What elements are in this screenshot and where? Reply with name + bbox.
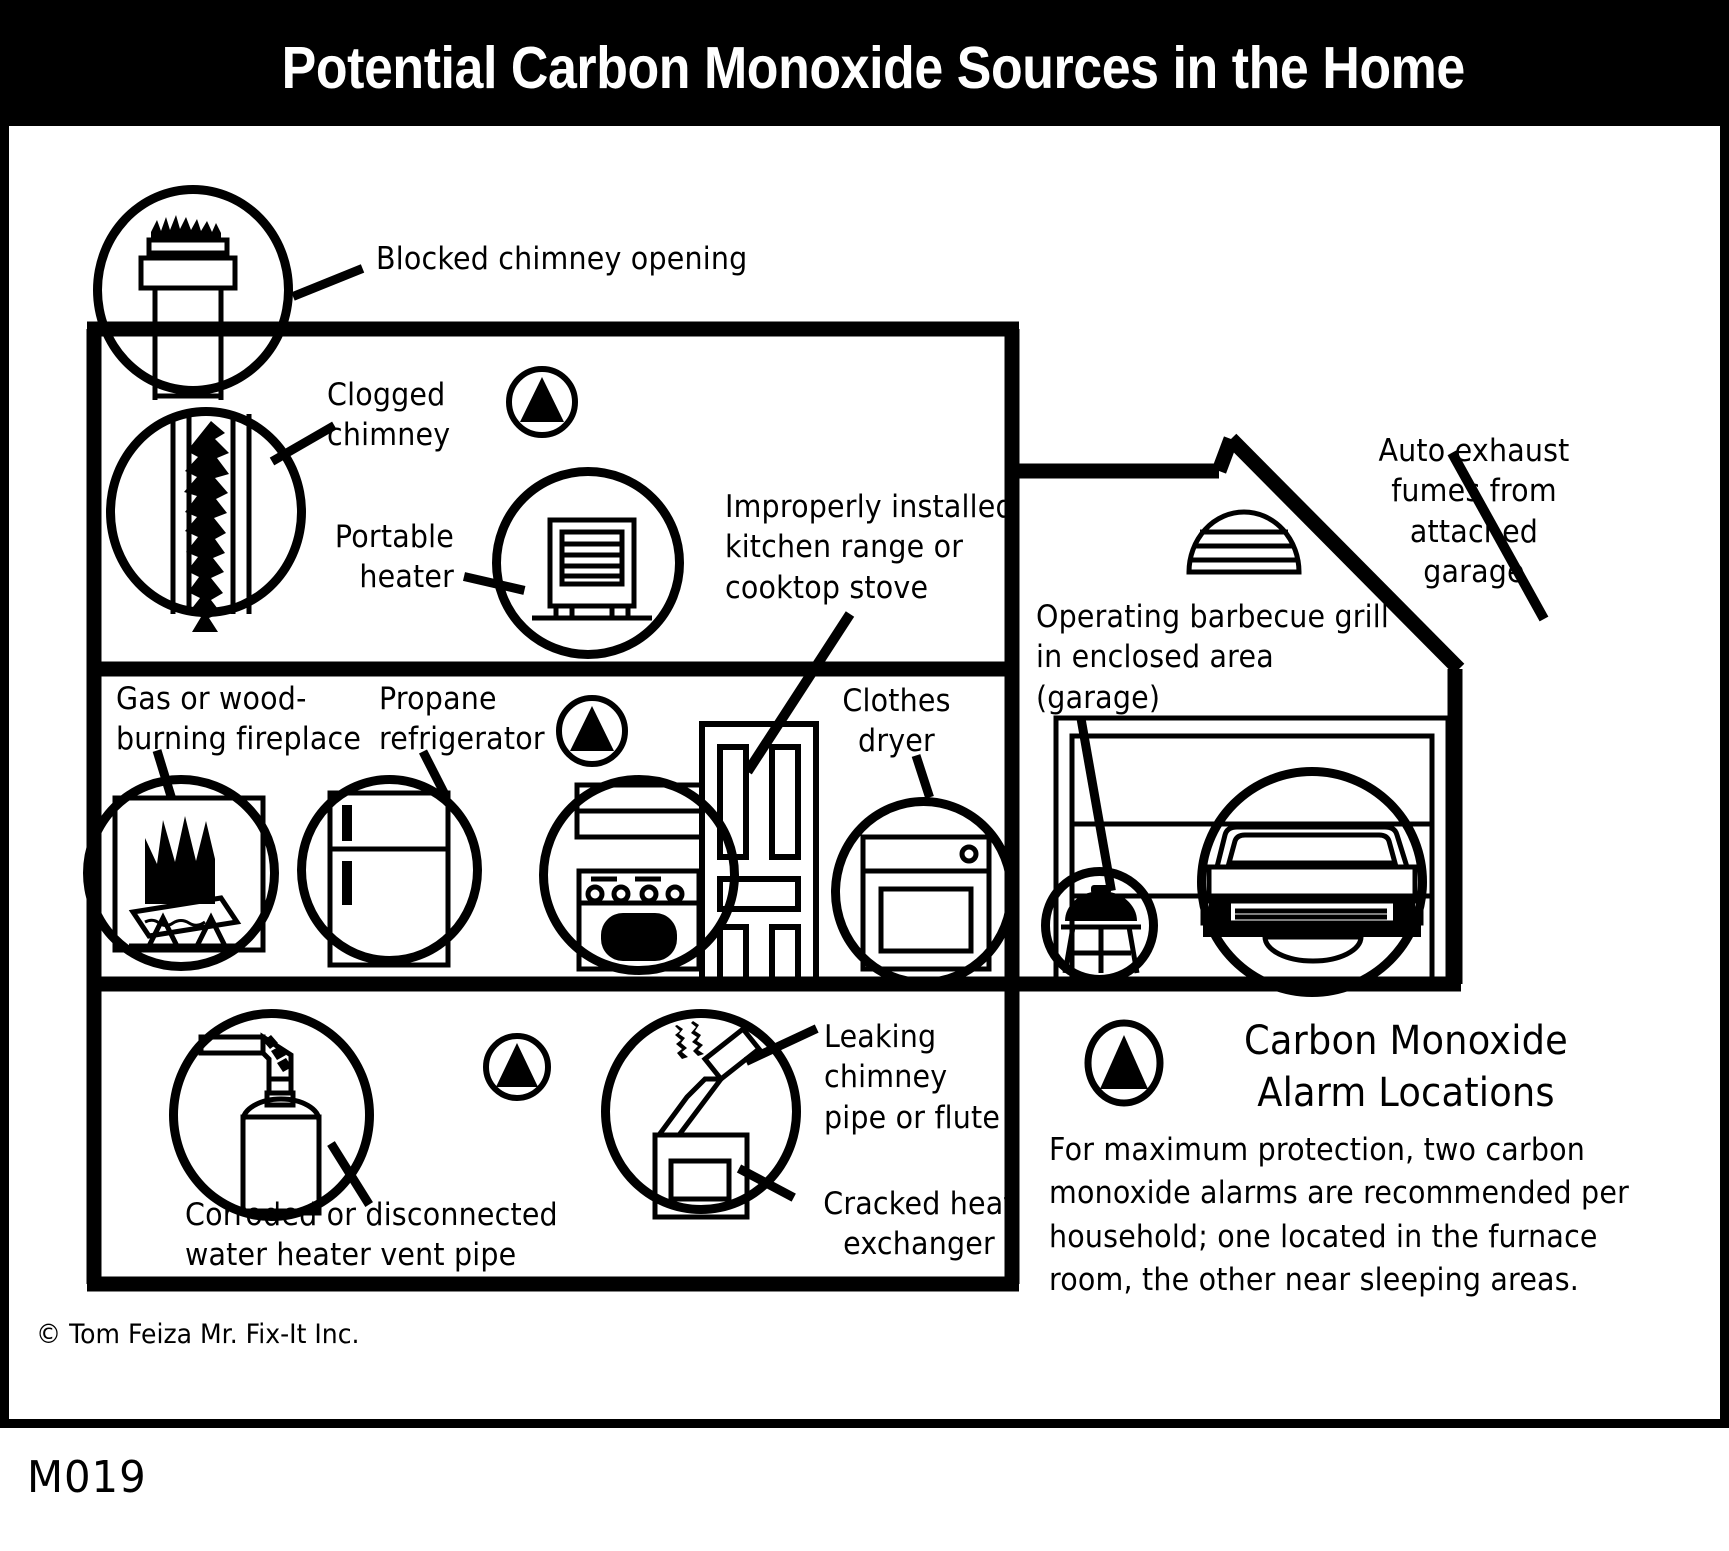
refrigerator-icon [324, 787, 459, 967]
label-water-heater-vent: Corroded or disconnected water heater ve… [185, 1195, 571, 1276]
alarm-marker-legend [1082, 1021, 1166, 1105]
copyright-notice: © Tom Feiza Mr. Fix-It Inc. [36, 1319, 360, 1350]
label-portable-heater: Portable heater [321, 517, 454, 598]
kitchen-range-icon [569, 781, 714, 971]
automobile-icon [1195, 815, 1431, 965]
fireplace-icon [109, 794, 269, 954]
water-heater-icon [199, 1021, 359, 1221]
barbecue-grill-icon [1057, 879, 1145, 977]
label-propane-refrigerator: Propane refrigerator [379, 679, 563, 760]
label-clothes-dryer: Clothes dryer [811, 681, 981, 762]
interior-door-icon [699, 721, 819, 984]
label-blocked-chimney: Blocked chimney opening [376, 239, 762, 279]
blocked-chimney-icon [133, 204, 263, 404]
label-kitchen-range: Improperly installed kitchen range or co… [725, 487, 1029, 608]
alarm-marker-main-floor [554, 693, 630, 769]
legend-note: For maximum protection, two carbon monox… [1049, 1129, 1667, 1303]
label-fireplace: Gas or wood- burning fireplace [116, 679, 364, 760]
document-id: M019 [27, 1452, 147, 1503]
label-cracked-heat-exchanger: Cracked heat exchanger [809, 1184, 1030, 1265]
legend-heading: Carbon Monoxide Alarm Locations [1208, 1015, 1604, 1119]
diagram-page: Potential Carbon Monoxide Sources in the… [0, 0, 1729, 1551]
clothes-dryer-icon [857, 831, 997, 971]
label-clogged-chimney: Clogged chimney [327, 375, 529, 456]
illustration-frame: Potential Carbon Monoxide Sources in the… [0, 0, 1729, 1428]
label-barbecue-grill: Operating barbecue grill in enclosed are… [1036, 597, 1395, 718]
alarm-marker-attic [504, 364, 580, 440]
clogged-chimney-icon [159, 409, 269, 614]
label-leaking-chimney-pipe: Leaking chimney pipe or flute [824, 1017, 1045, 1138]
label-auto-exhaust: Auto exhaust fumes from attached garage [1359, 431, 1589, 592]
portable-heater-icon [532, 514, 652, 629]
alarm-marker-basement [481, 1031, 553, 1103]
gable-vent-icon [1184, 504, 1304, 576]
